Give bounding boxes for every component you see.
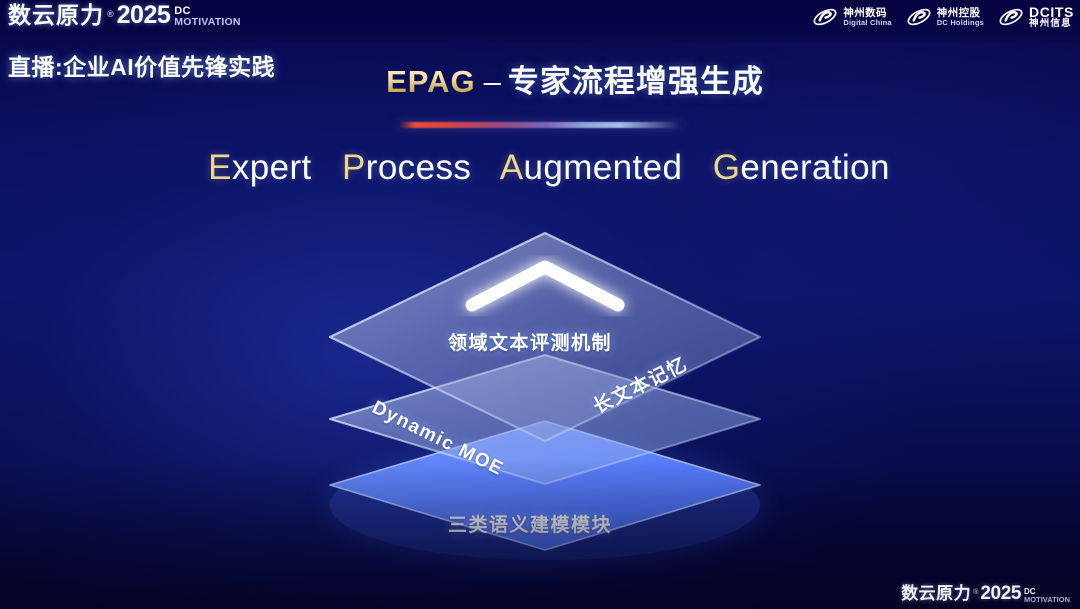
acronym-expansion: Expert Process Augmented Generation bbox=[0, 148, 1080, 188]
expansion-rest: eneration bbox=[740, 148, 890, 187]
expansion-rest: rocess bbox=[366, 148, 472, 187]
watermark-year: 2025 bbox=[980, 585, 1021, 603]
brand-name-cn: 数云原力 bbox=[8, 3, 104, 28]
watermark-logo: 数云原力 ® 2025 DC MOTIVATION bbox=[901, 585, 1070, 603]
partner-name-en: DC Holdings bbox=[937, 19, 984, 27]
partner-name-cn: 神州数码 bbox=[843, 8, 891, 19]
watermark-motivation-label: MOTIVATION bbox=[1024, 596, 1070, 604]
expansion-initial: P bbox=[342, 148, 366, 187]
brand-motivation-label: MOTIVATION bbox=[174, 17, 240, 28]
brand-registered-mark: ® bbox=[107, 7, 114, 21]
brand-lockup: 数云原力 ® 2025 DC MOTIVATION bbox=[8, 3, 241, 28]
watermark-name-cn: 数云原力 bbox=[901, 585, 971, 603]
title-acronym: EPAG bbox=[386, 64, 478, 99]
partner-logo-text: 神州数码 Digital China bbox=[843, 8, 891, 27]
partner-logo-dc-holdings: 神州控股 DC Holdings bbox=[906, 4, 984, 30]
partner-logo-digital-china: 神州数码 Digital China bbox=[812, 4, 891, 30]
partner-logo-dcits: DCITS 神州信息 bbox=[998, 4, 1074, 30]
partner-name-en: 神州信息 bbox=[1029, 19, 1074, 29]
diagram-svg bbox=[290, 225, 800, 570]
watermark-registered-mark: ® bbox=[973, 588, 978, 598]
expansion-space bbox=[322, 148, 332, 187]
expansion-word: Generation bbox=[713, 148, 890, 187]
gradient-divider bbox=[398, 122, 683, 128]
swirl-logo-icon bbox=[812, 4, 838, 30]
expansion-rest: ugmented bbox=[523, 148, 682, 187]
title-subtitle-cn: 专家流程增强生成 bbox=[508, 64, 764, 99]
partner-name-en: Digital China bbox=[843, 19, 891, 27]
expansion-rest: xpert bbox=[232, 148, 312, 187]
layered-architecture-diagram: 领域文本评测机制 Dynamic MOE 长文本记忆 三类语义建模模块 bbox=[290, 225, 800, 570]
expansion-initial: E bbox=[208, 148, 232, 187]
slide-canvas: 数云原力 ® 2025 DC MOTIVATION 直播:企业AI价值先锋实践 … bbox=[0, 0, 1080, 609]
expansion-space bbox=[481, 148, 491, 187]
brand-dc-lockup: DC MOTIVATION bbox=[174, 6, 240, 29]
watermark-dc-lockup: DC MOTIVATION bbox=[1024, 588, 1070, 604]
partner-logo-text: DCITS 神州信息 bbox=[1029, 5, 1074, 30]
partner-logo-row: 神州数码 Digital China 神州控股 DC Holdings DCIT… bbox=[812, 4, 1074, 30]
expansion-initial: G bbox=[713, 148, 741, 187]
swirl-logo-icon bbox=[906, 4, 932, 30]
expansion-word: Expert bbox=[208, 148, 312, 187]
expansion-word: Augmented bbox=[500, 148, 683, 187]
partner-logo-text: 神州控股 DC Holdings bbox=[937, 8, 984, 27]
brand-year: 2025 bbox=[117, 3, 171, 28]
expansion-word: Process bbox=[342, 148, 471, 187]
slide-main-title: EPAG–专家流程增强生成 bbox=[0, 56, 1080, 101]
expansion-space bbox=[692, 148, 702, 187]
expansion-initial: A bbox=[500, 148, 524, 187]
brand-dc-label: DC bbox=[174, 6, 240, 17]
swirl-logo-icon bbox=[998, 4, 1024, 30]
title-dash: – bbox=[478, 64, 508, 99]
partner-name-cn: 神州控股 bbox=[937, 8, 984, 19]
